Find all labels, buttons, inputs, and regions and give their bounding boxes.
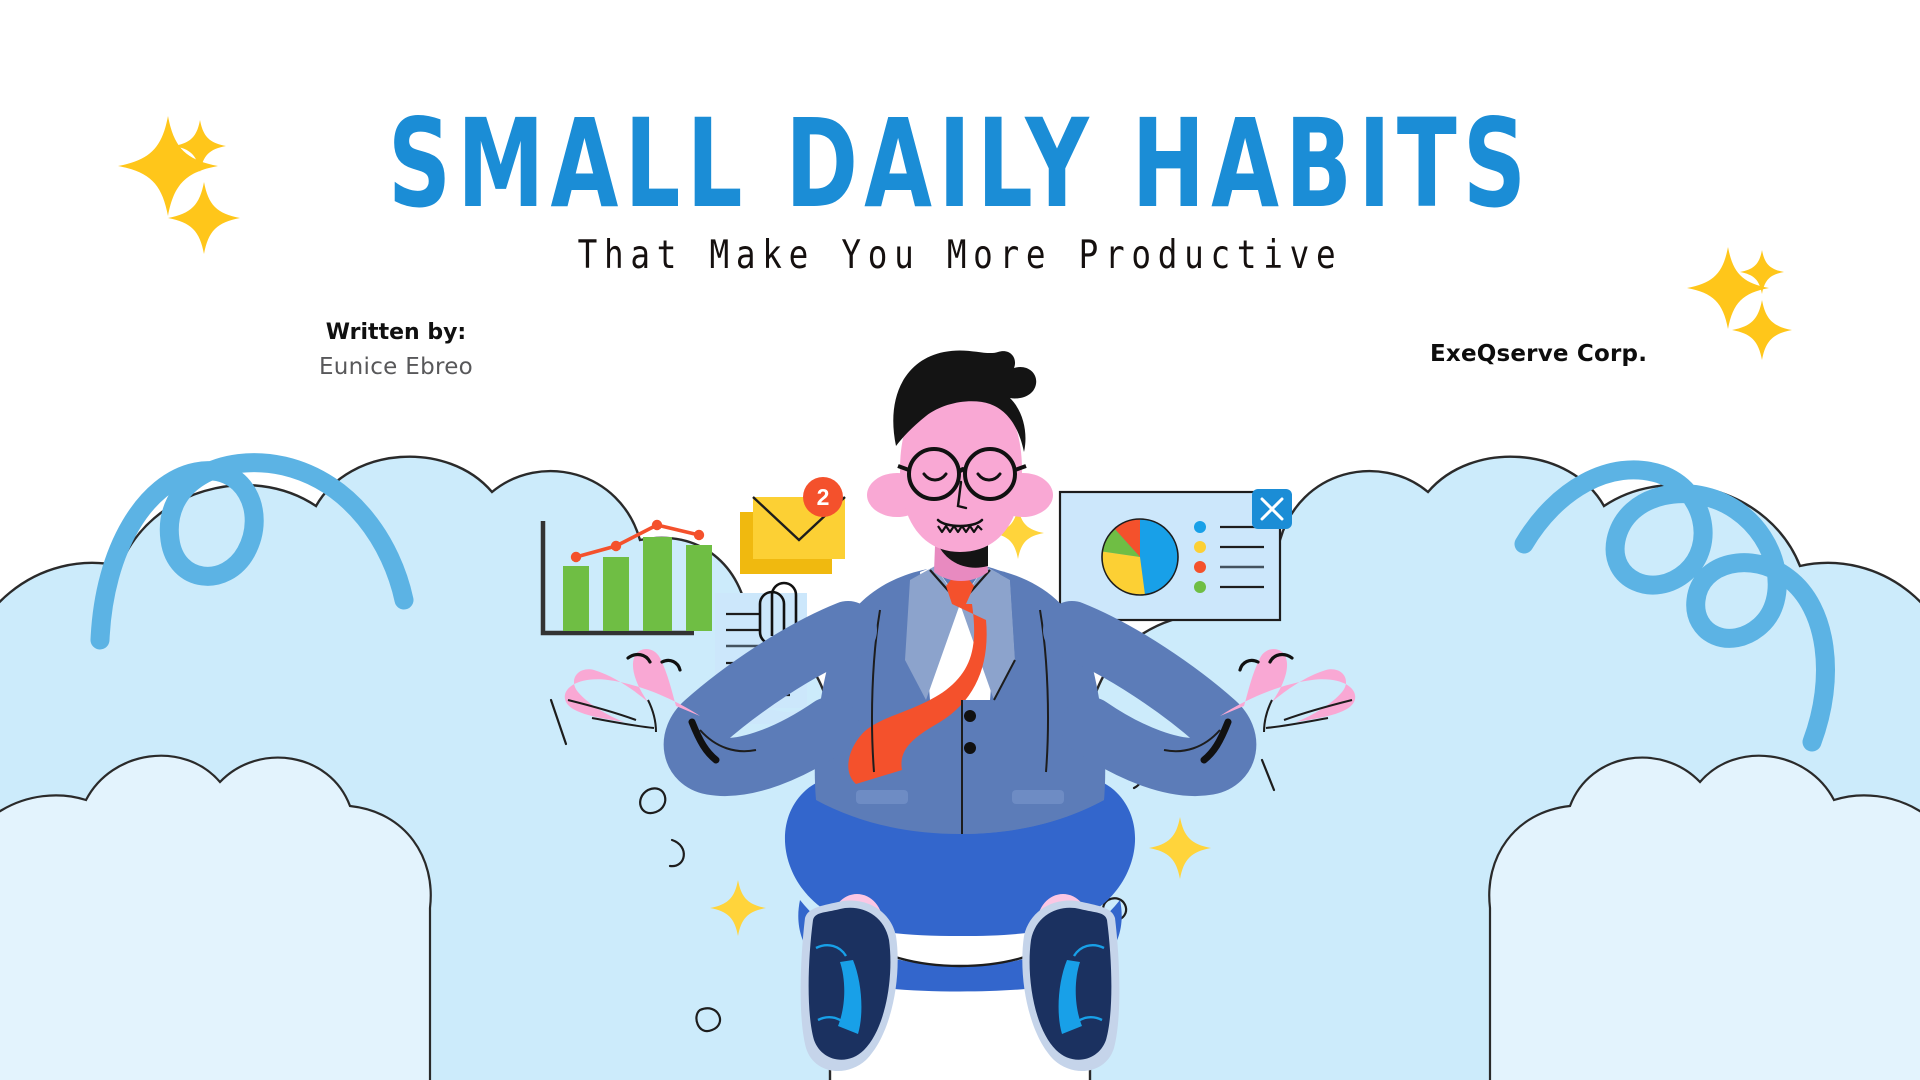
close-icon[interactable] <box>1252 489 1292 529</box>
figure-button-1 <box>964 710 976 722</box>
bar-4 <box>686 545 712 631</box>
page-title: SMALL DAILY HABITS <box>0 104 1920 226</box>
author-label: Written by: <box>306 320 486 345</box>
pie-chart <box>1102 519 1178 595</box>
figure-pocket-right <box>1012 790 1064 804</box>
pie-chart-panel <box>1060 492 1280 620</box>
bar-2 <box>603 557 629 631</box>
bar-1 <box>563 566 589 631</box>
figure-pocket-left <box>856 790 908 804</box>
figure-shoe-left <box>801 900 898 1071</box>
mail-envelope-icon: 2 <box>740 477 845 574</box>
figure-button-2 <box>964 742 976 754</box>
header: SMALL DAILY HABITS That Make You More Pr… <box>0 0 1920 400</box>
bar-3 <box>643 537 672 631</box>
company-name: ExeQserve Corp. <box>1430 341 1647 367</box>
mail-badge-count: 2 <box>817 484 830 510</box>
author-name: Eunice Ebreo <box>306 354 486 380</box>
page-subtitle: That Make You More Productive <box>38 232 1881 278</box>
figure-shoe-right <box>1022 900 1119 1071</box>
author-block: Written by: Eunice Ebreo <box>306 320 486 380</box>
slide-root: 2 <box>0 0 1920 1080</box>
